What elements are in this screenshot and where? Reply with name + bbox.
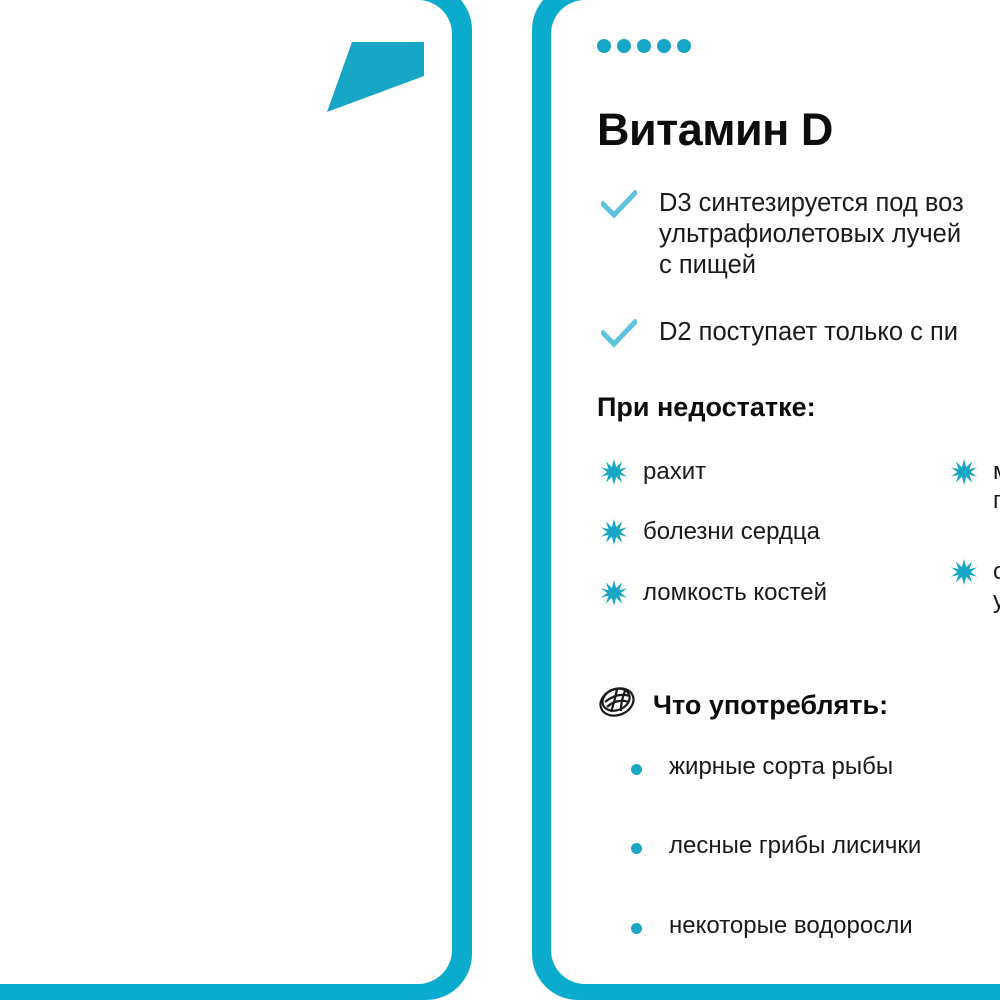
list-item-label: жирные сорта рыбы — [669, 752, 893, 781]
star-icon — [601, 580, 627, 606]
deficiency-col-left-d: рахит болезни сердца ломко — [601, 457, 951, 615]
list-item: D3 синтезируется под воз ультрафиолетовы… — [601, 188, 964, 281]
list-item-label: ломкость костей — [643, 578, 827, 607]
list-item: рахит — [601, 457, 951, 486]
deficiency-col-right-d: мы го су ус — [951, 457, 1000, 615]
bullet-dot-icon — [631, 843, 642, 854]
card-vitamin-c: С римый жизненно важный лемент множества… — [0, 0, 472, 1000]
list-item-label: некоторые водоросли — [669, 911, 913, 940]
list-item: мы го — [951, 457, 1000, 516]
check-icon — [601, 319, 637, 349]
star-icon — [601, 519, 627, 545]
list-item-label: лесные грибы лисички — [669, 831, 921, 860]
walnut-icon — [597, 682, 637, 722]
list-item: лесные грибы лисички — [625, 831, 921, 860]
synthesis-checklist: D3 синтезируется под воз ультрафиолетовы… — [601, 188, 964, 349]
heading-consume-d: Что употреблять: — [653, 690, 888, 721]
list-item: некоторые водоросли — [625, 911, 921, 940]
list-item: болезни сердца — [601, 517, 951, 546]
deficiency-list-d: рахит болезни сердца ломко — [601, 457, 1000, 615]
card-vitamin-d-body: Витамин D D3 синтезируется под воз ультр… — [551, 0, 1000, 984]
card-vitamin-c-content: С римый жизненно важный лемент множества… — [0, 0, 412, 984]
list-item-label: болезни сердца — [643, 517, 820, 546]
list-item: D2 поступает только с пи — [601, 317, 964, 349]
bullet-dot-icon — [631, 764, 642, 775]
infographic-canvas: С римый жизненно важный лемент множества… — [0, 0, 1000, 1000]
list-item: ломкость костей — [601, 578, 951, 607]
list-item-label: рахит — [643, 457, 706, 486]
bullet-dot-icon — [631, 923, 642, 934]
star-icon — [951, 459, 977, 485]
list-item-label: мы го — [993, 457, 1000, 516]
card-vitamin-d-content: Витамин D D3 синтезируется под воз ультр… — [597, 0, 1000, 984]
card-vitamin-c-body: С римый жизненно важный лемент множества… — [0, 0, 452, 984]
star-icon — [951, 559, 977, 585]
consume-col-d: жирные сорта рыбы лесные грибы лисички н… — [625, 752, 921, 940]
consume-list-d: жирные сорта рыбы лесные грибы лисички н… — [625, 752, 921, 940]
star-icon — [601, 459, 627, 485]
list-item: жирные сорта рыбы — [625, 752, 921, 781]
page-title-vitamin-d: Витамин D — [597, 106, 833, 153]
check-icon — [601, 190, 637, 220]
list-item-label: D3 синтезируется под воз ультрафиолетовы… — [659, 188, 964, 281]
heading-deficiency-d: При недостатке: — [597, 392, 816, 423]
list-item-label: су ус — [993, 557, 1000, 616]
card-vitamin-d: Витамин D D3 синтезируется под воз ультр… — [532, 0, 1000, 1000]
list-item-label: D2 поступает только с пи — [659, 317, 958, 348]
list-item: су ус — [951, 557, 1000, 616]
